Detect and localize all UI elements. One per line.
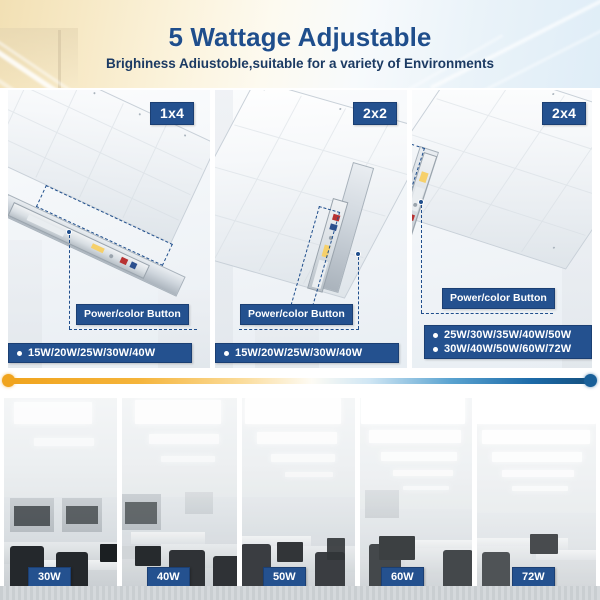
office-scene-60w: 60W bbox=[359, 394, 476, 600]
watt-tag-40w: 40W bbox=[147, 567, 190, 588]
bottom-texture-strip bbox=[0, 586, 600, 600]
product-card-2x4: Power/color Button 2x4 25W/30W/35W/40W/5… bbox=[412, 90, 592, 368]
watt-tag-72w: 72W bbox=[512, 567, 555, 588]
office-scenes-section: 30W 40W bbox=[0, 394, 600, 600]
ceiling-light bbox=[257, 432, 337, 444]
monitor bbox=[277, 542, 303, 562]
product-card-1x4: Power/color Button 1x4 15W/20W/25W/30W/4… bbox=[8, 90, 210, 368]
ceiling-light bbox=[245, 398, 341, 424]
ceiling-light bbox=[271, 454, 335, 462]
page-title: 5 Wattage Adjustable bbox=[0, 22, 600, 53]
header-banner: 5 Wattage Adjustable Brighiness Adiustob… bbox=[0, 0, 600, 88]
size-badge-2x2: 2x2 bbox=[353, 102, 397, 125]
ceiling-light bbox=[381, 452, 457, 461]
callout-leader-line bbox=[69, 235, 70, 329]
scene-divider bbox=[237, 394, 242, 600]
driver-label-blue bbox=[129, 261, 137, 269]
window-glass bbox=[125, 502, 157, 524]
ceiling-light bbox=[512, 486, 568, 491]
desk bbox=[131, 532, 205, 544]
ceiling-light bbox=[14, 402, 92, 424]
wattage-badge-2x2: 15W/20W/25W/30W/40W bbox=[215, 343, 399, 363]
wattage-value: 25W/30W/35W/40W/50W bbox=[444, 329, 571, 341]
ceiling-light bbox=[502, 470, 574, 477]
callout-leader-line bbox=[358, 257, 359, 329]
bullet-icon bbox=[433, 333, 438, 338]
ceiling-light bbox=[34, 438, 94, 446]
ceiling-light bbox=[149, 434, 219, 444]
cool-endpoint-dot bbox=[584, 374, 597, 387]
scene-divider bbox=[472, 394, 477, 600]
callout-leader-line bbox=[421, 313, 553, 314]
power-color-button-tag: Power/color Button bbox=[76, 304, 189, 325]
power-color-button-tag: Power/color Button bbox=[442, 288, 555, 309]
watt-tag-60w: 60W bbox=[381, 567, 424, 588]
wattage-value: 30W/40W/50W/60W/72W bbox=[444, 343, 571, 355]
wattage-badge-1x4: 15W/20W/25W/30W/40W bbox=[8, 343, 192, 363]
page-subtitle: Brighiness Adiustoble,suitable for a var… bbox=[0, 56, 600, 71]
watt-tag-30w: 30W bbox=[28, 567, 71, 588]
power-color-button-dot bbox=[109, 254, 114, 259]
window-glass bbox=[14, 506, 50, 526]
product-infographic: 5 Wattage Adjustable Brighiness Adiustob… bbox=[0, 0, 600, 600]
scene-divider bbox=[355, 394, 360, 600]
monitor bbox=[530, 534, 558, 554]
wattage-badge-2x4: 25W/30W/35W/40W/50W 30W/40W/50W/60W/72W bbox=[424, 325, 592, 359]
warm-endpoint-dot bbox=[2, 374, 15, 387]
bullet-icon bbox=[433, 347, 438, 352]
bullet-icon bbox=[224, 351, 229, 356]
driver-label-yellow bbox=[91, 243, 105, 253]
size-badge-1x4: 1x4 bbox=[150, 102, 194, 125]
ceiling-light bbox=[403, 486, 449, 490]
window-glass bbox=[66, 506, 98, 524]
ceiling-light bbox=[492, 452, 582, 462]
desk-phone bbox=[327, 538, 345, 560]
wattage-value: 15W/20W/25W/30W/40W bbox=[28, 347, 155, 359]
ceiling-light bbox=[482, 430, 590, 444]
product-panels-section: Power/color Button 1x4 15W/20W/25W/30W/4… bbox=[0, 88, 600, 370]
plant-shape bbox=[185, 492, 213, 514]
ceiling-light bbox=[161, 456, 215, 462]
ceiling-light bbox=[393, 470, 453, 476]
watt-tag-50w: 50W bbox=[263, 567, 306, 588]
glass-divider bbox=[365, 490, 399, 518]
driver-label-red bbox=[119, 257, 128, 265]
wattage-row: 30W/40W/50W/60W/72W bbox=[433, 343, 583, 355]
wattage-row: 15W/20W/25W/30W/40W bbox=[17, 347, 183, 359]
power-color-button-tag: Power/color Button bbox=[240, 304, 353, 325]
color-temperature-gradient bbox=[10, 378, 590, 384]
office-scene-72w: 72W bbox=[476, 394, 596, 600]
wattage-row: 25W/30W/35W/40W/50W bbox=[433, 329, 583, 341]
wattage-value: 15W/20W/25W/30W/40W bbox=[235, 347, 362, 359]
monitor bbox=[135, 546, 161, 566]
scene-divider bbox=[117, 394, 122, 600]
product-card-2x2: Power/color Button 2x2 15W/20W/25W/30W/4… bbox=[215, 90, 407, 368]
driver-label-yellow bbox=[419, 171, 429, 183]
monitor bbox=[379, 536, 415, 560]
ceiling-light bbox=[361, 396, 465, 424]
callout-leader-line bbox=[69, 329, 197, 330]
ceiling-light bbox=[135, 400, 221, 424]
size-badge-2x4: 2x4 bbox=[542, 102, 586, 125]
ceiling-light bbox=[369, 430, 461, 443]
callout-leader-line bbox=[421, 205, 422, 313]
office-scene-30w: 30W bbox=[4, 394, 121, 600]
bullet-icon bbox=[17, 351, 22, 356]
callout-leader-line bbox=[239, 329, 359, 330]
driver-label-red bbox=[412, 213, 415, 221]
ceiling-light bbox=[476, 394, 596, 424]
office-scene-40w: 40W bbox=[121, 394, 241, 600]
office-scene-50w: 50W bbox=[241, 394, 359, 600]
ceiling-light bbox=[285, 472, 333, 477]
color-temperature-bar bbox=[0, 372, 600, 390]
wattage-row: 15W/20W/25W/30W/40W bbox=[224, 347, 390, 359]
